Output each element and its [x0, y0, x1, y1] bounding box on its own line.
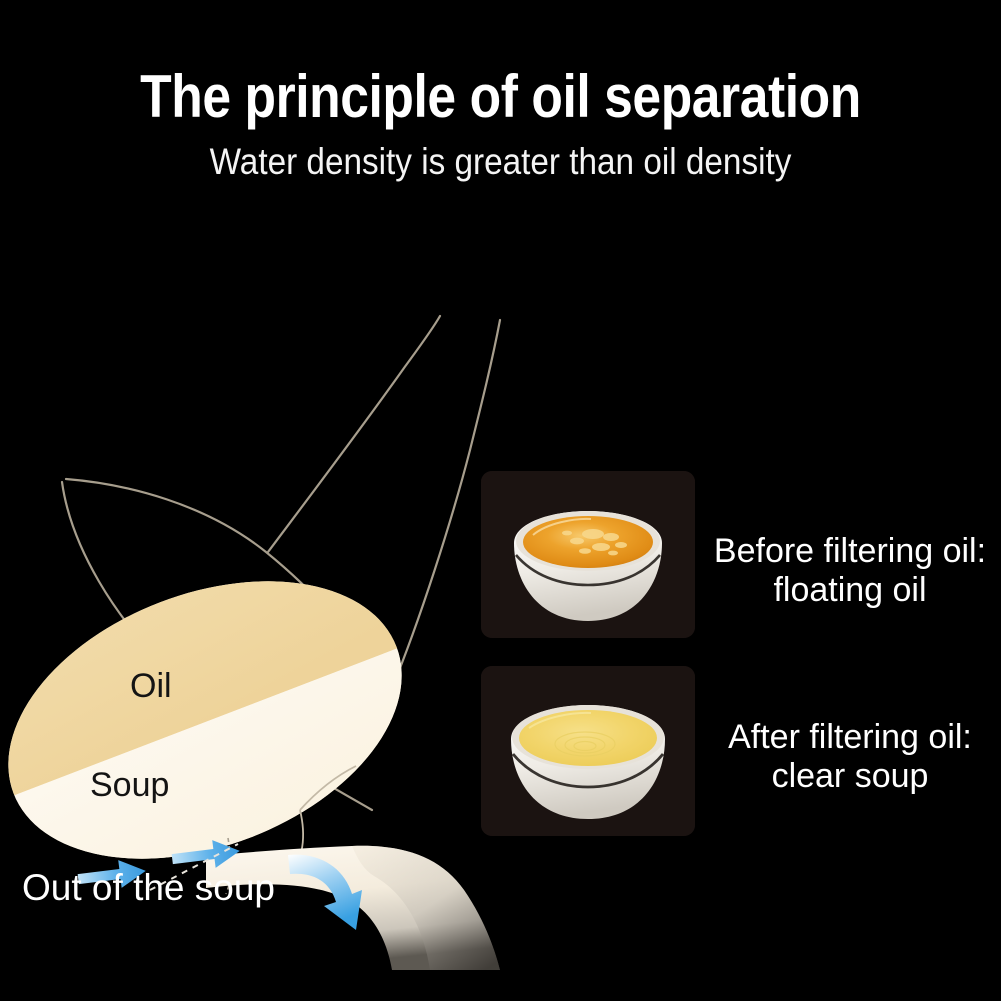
label-out-of-soup: Out of the soup [22, 866, 275, 910]
photo-card-before-filtering [481, 471, 695, 638]
label-soup: Soup [90, 765, 169, 805]
caption-before-line-2: floating oil [700, 571, 1000, 610]
bowl-after-filtering-image [481, 666, 695, 836]
soup-liquid [523, 516, 653, 568]
soup-liquid [519, 710, 657, 766]
out-of-soup-line-2: the soup [133, 867, 275, 908]
caption-after-filtering: After filtering oil: clear soup [700, 718, 1000, 796]
ladle-diagram: Oil Soup Out of the soup [0, 290, 560, 970]
caption-before-line-1: Before filtering oil: [700, 532, 1000, 571]
bowl-before-filtering-image [481, 471, 695, 638]
label-oil: Oil [130, 666, 172, 706]
page-title: The principle of oil separation [70, 60, 931, 134]
caption-after-line-1: After filtering oil: [700, 718, 1000, 757]
page-subtitle: Water density is greater than oil densit… [50, 140, 951, 184]
photo-card-after-filtering [481, 666, 695, 836]
caption-before-filtering: Before filtering oil: floating oil [700, 532, 1000, 610]
oil-separation-infographic: The principle of oil separation Water de… [0, 0, 1001, 1001]
out-of-soup-line-1: Out of [22, 867, 123, 908]
header: The principle of oil separation Water de… [0, 60, 1001, 184]
caption-after-line-2: clear soup [700, 757, 1000, 796]
